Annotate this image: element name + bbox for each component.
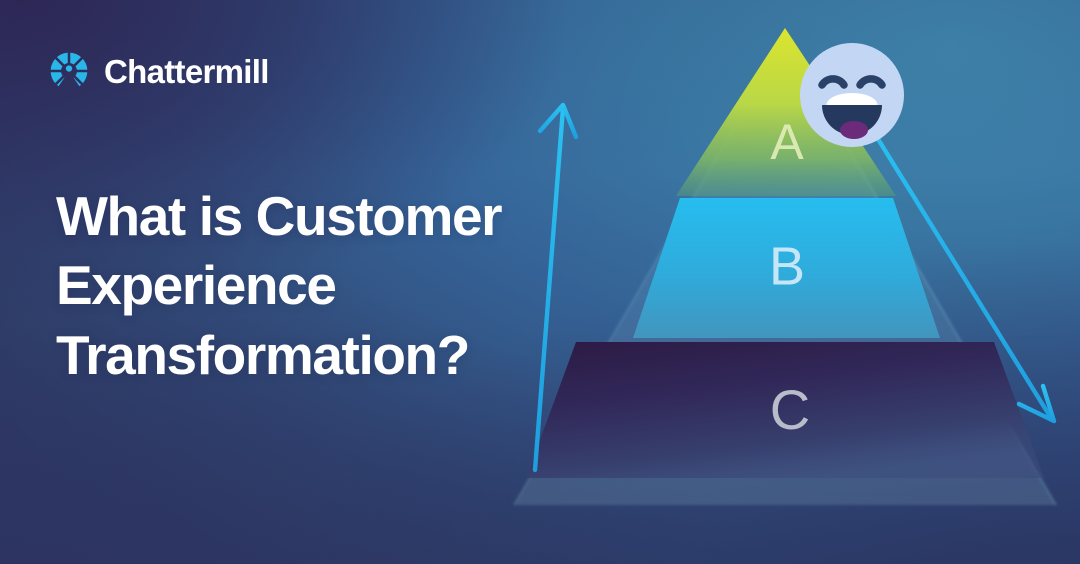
tier-c-label: C <box>770 378 810 441</box>
smiley-face-icon <box>800 43 904 147</box>
tier-a-label: A <box>770 114 804 170</box>
brand-logo[interactable]: Chattermill <box>48 47 269 95</box>
brand-name: Chattermill <box>104 55 269 88</box>
pyramid-graphic: C B A <box>500 0 1080 564</box>
pyramid-tier-b[interactable]: B <box>633 198 940 338</box>
hero-banner: Chattermill What is Customer Experience … <box>0 0 1080 564</box>
segmented-gauge-ring-icon <box>48 50 90 92</box>
tier-b-label: B <box>769 236 805 296</box>
pyramid-tier-c[interactable]: C <box>526 342 1044 478</box>
